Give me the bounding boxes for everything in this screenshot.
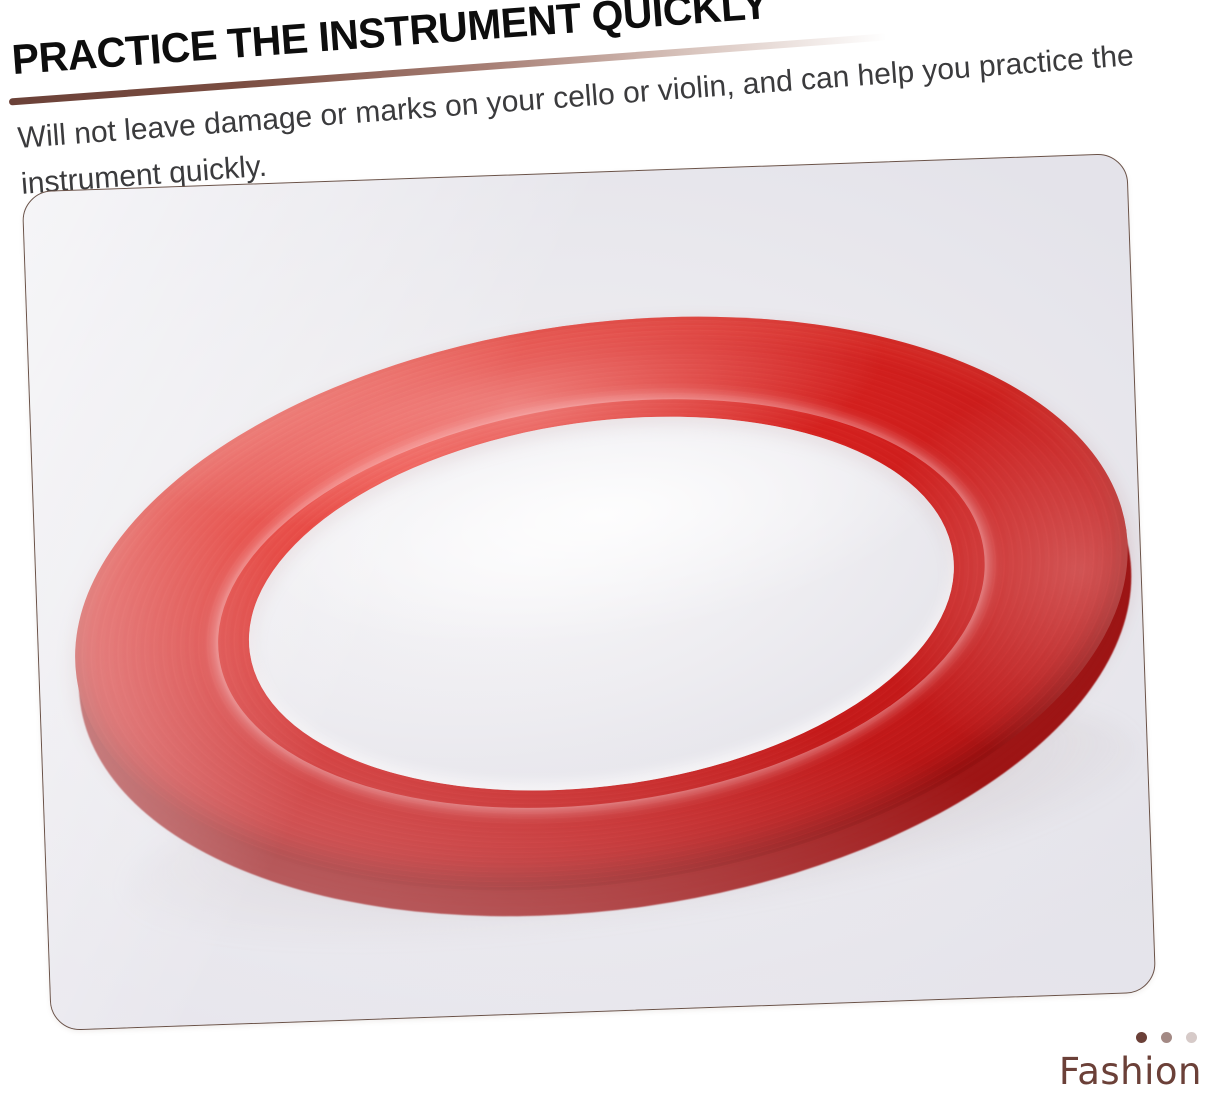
brand-name-label: Fashion <box>1059 1053 1202 1090</box>
header-banner: PRACTICE THE INSTRUMENT QUICKLY Will not… <box>0 0 1216 8</box>
brand-dots-decoration <box>1059 1032 1197 1043</box>
brand-dot-icon <box>1186 1032 1197 1043</box>
brand-mark: Fashion <box>1059 1032 1202 1090</box>
product-photo-card <box>22 153 1157 1031</box>
tape-roll <box>38 253 1157 955</box>
product-infographic-page: PRACTICE THE INSTRUMENT QUICKLY Will not… <box>0 0 1216 1098</box>
brand-dot-icon <box>1136 1032 1147 1043</box>
brand-dot-icon <box>1161 1032 1172 1043</box>
tape-roll-image <box>38 253 1157 955</box>
